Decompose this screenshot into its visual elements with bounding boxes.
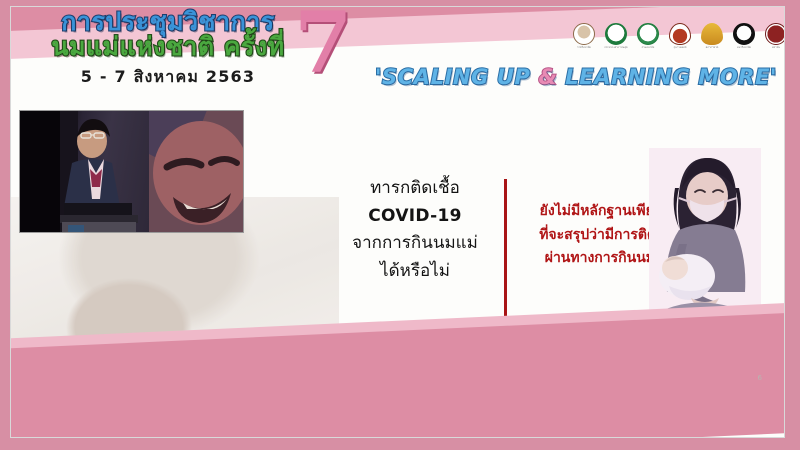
sponsor-logo-row: ราชวิทยาลัย กระทรวงสาธารณสุข กรมอนามัย ก… [571, 23, 785, 53]
question-line2: COVID-19 [329, 203, 501, 231]
logo-caption: สภากาชาด [706, 46, 719, 50]
logo-caption: กระทรวงสาธารณสุข [604, 46, 627, 50]
conference-title-block: การประชุมวิชาการ นมแม่แห่งชาติ ครั้งที่ … [23, 9, 313, 90]
health-department-logo: กรมอนามัย [635, 23, 661, 53]
logo-caption: ราชวิทยาลัย [577, 46, 591, 50]
video-baby-scene [149, 111, 243, 232]
logo-caption: มหาวิทยาลัย [737, 46, 751, 50]
pediatric-icon [669, 23, 691, 45]
tagline-part2: LEARNING MORE' [557, 65, 777, 89]
institute-seal-icon [765, 23, 785, 45]
slide-page: การประชุมวิชาการ นมแม่แห่งชาติ ครั้งที่ … [10, 6, 785, 438]
slide-number: 6 [758, 374, 762, 382]
royal-crown-logo: สภากาชาด [699, 23, 725, 53]
logo-caption: สถาบัน [772, 46, 780, 50]
vertical-divider [504, 179, 507, 323]
question-line3: จากการกินนมแม่ [329, 230, 501, 258]
ministry-health-logo: กระทรวงสาธารณสุข [603, 23, 629, 53]
logo-caption: กุมารแพทย์ [674, 46, 687, 50]
question-line4: ได้หรือไม่ [329, 258, 501, 286]
thai-pediatric-logo: กุมารแพทย์ [667, 23, 693, 53]
question-text-block: ทารกติดเชื้อ COVID-19 จากการกินนมแม่ ได้… [329, 175, 501, 285]
institute-seal-logo: สถาบัน [763, 23, 785, 53]
conference-tagline: 'SCALING UP & LEARNING MORE' [366, 65, 785, 89]
conference-date: 5 - 7 สิงหาคม 2563 [23, 65, 313, 90]
health-department-icon [637, 23, 659, 45]
tagline-ampersand: & [538, 65, 557, 89]
royal-emblem-logo: ราชวิทยาลัย [571, 23, 597, 53]
presentation-slide-viewer: การประชุมวิชาการ นมแม่แห่งชาติ ครั้งที่ … [0, 0, 800, 450]
speaker-at-podium-graphic [20, 111, 150, 233]
logo-caption: กรมอนามัย [642, 46, 655, 50]
university-seal-logo: มหาวิทยาลัย [731, 23, 757, 53]
university-seal-icon [733, 23, 755, 45]
conference-title-line2: นมแม่แห่งชาติ ครั้งที่ [23, 34, 313, 60]
question-line1: ทารกติดเชื้อ [329, 175, 501, 203]
ministry-health-icon [605, 23, 627, 45]
conference-speaker-video[interactable] [19, 110, 244, 233]
video-speaker-scene [20, 111, 149, 232]
tagline-part1: 'SCALING UP [375, 65, 539, 89]
smiling-baby-face-graphic [149, 111, 244, 233]
conference-edition-number: 7 [294, 6, 352, 85]
royal-emblem-icon [573, 23, 595, 45]
crown-icon [701, 23, 723, 45]
